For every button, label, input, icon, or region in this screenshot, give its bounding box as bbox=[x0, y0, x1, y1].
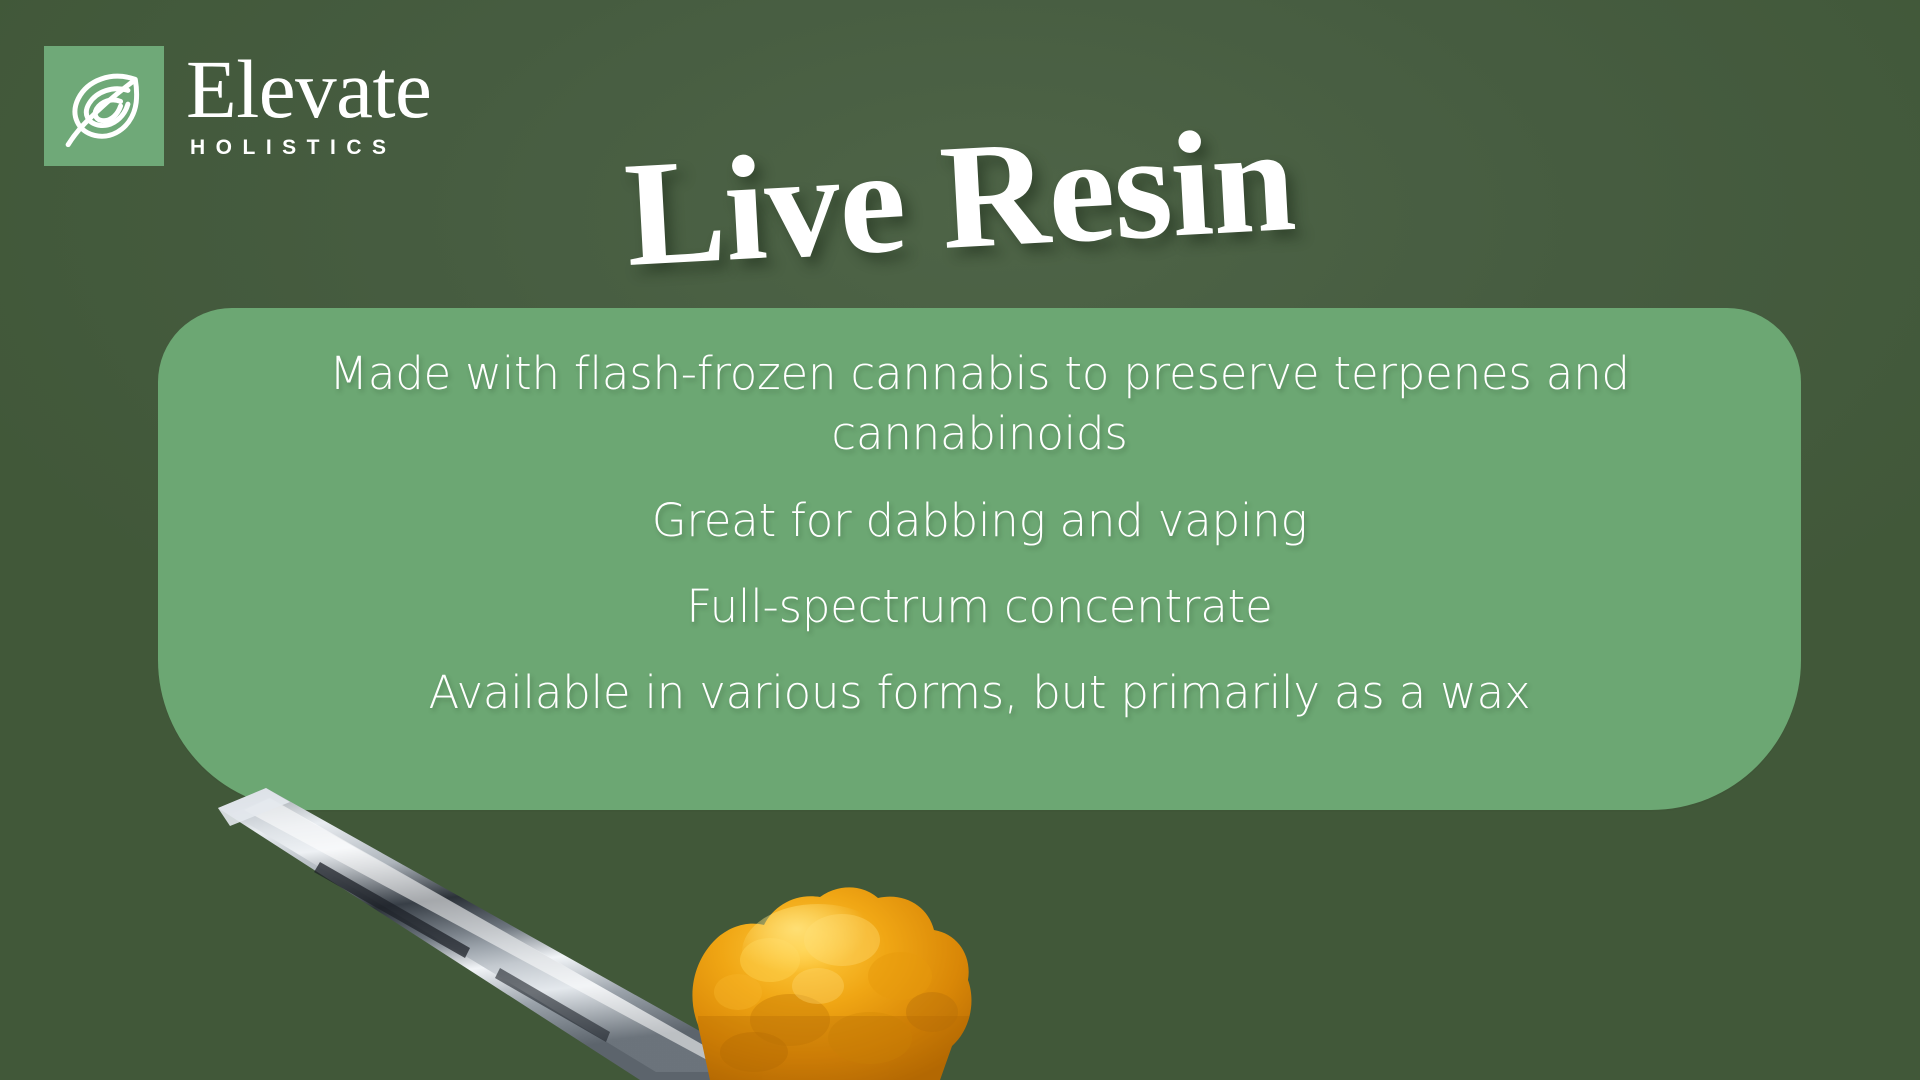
feature-item: Made with flash-frozen cannabis to prese… bbox=[265, 344, 1695, 465]
features-panel: Made with flash-frozen cannabis to prese… bbox=[158, 308, 1801, 810]
features-list: Made with flash-frozen cannabis to prese… bbox=[158, 344, 1801, 723]
logo-tile bbox=[44, 46, 164, 166]
infographic-canvas: Elevate HOLISTICS Live Resin Made with f… bbox=[0, 0, 1920, 1080]
leaf-icon bbox=[58, 60, 150, 152]
dab-tool-shaft bbox=[218, 788, 730, 1080]
logo-wordmark-group: Elevate HOLISTICS bbox=[186, 46, 431, 160]
brand-name: Elevate bbox=[186, 50, 431, 130]
live-resin-wax bbox=[692, 887, 978, 1080]
product-photo bbox=[170, 780, 1170, 1080]
page-title: Live Resin bbox=[610, 103, 1310, 290]
dab-tool-illustration bbox=[170, 780, 1170, 1080]
brand-tagline: HOLISTICS bbox=[190, 136, 431, 160]
feature-item: Great for dabbing and vaping bbox=[220, 491, 1739, 551]
brand-logo[interactable]: Elevate HOLISTICS bbox=[44, 46, 431, 166]
feature-item: Full-spectrum concentrate bbox=[220, 577, 1739, 637]
feature-item: Available in various forms, but primaril… bbox=[220, 663, 1739, 723]
